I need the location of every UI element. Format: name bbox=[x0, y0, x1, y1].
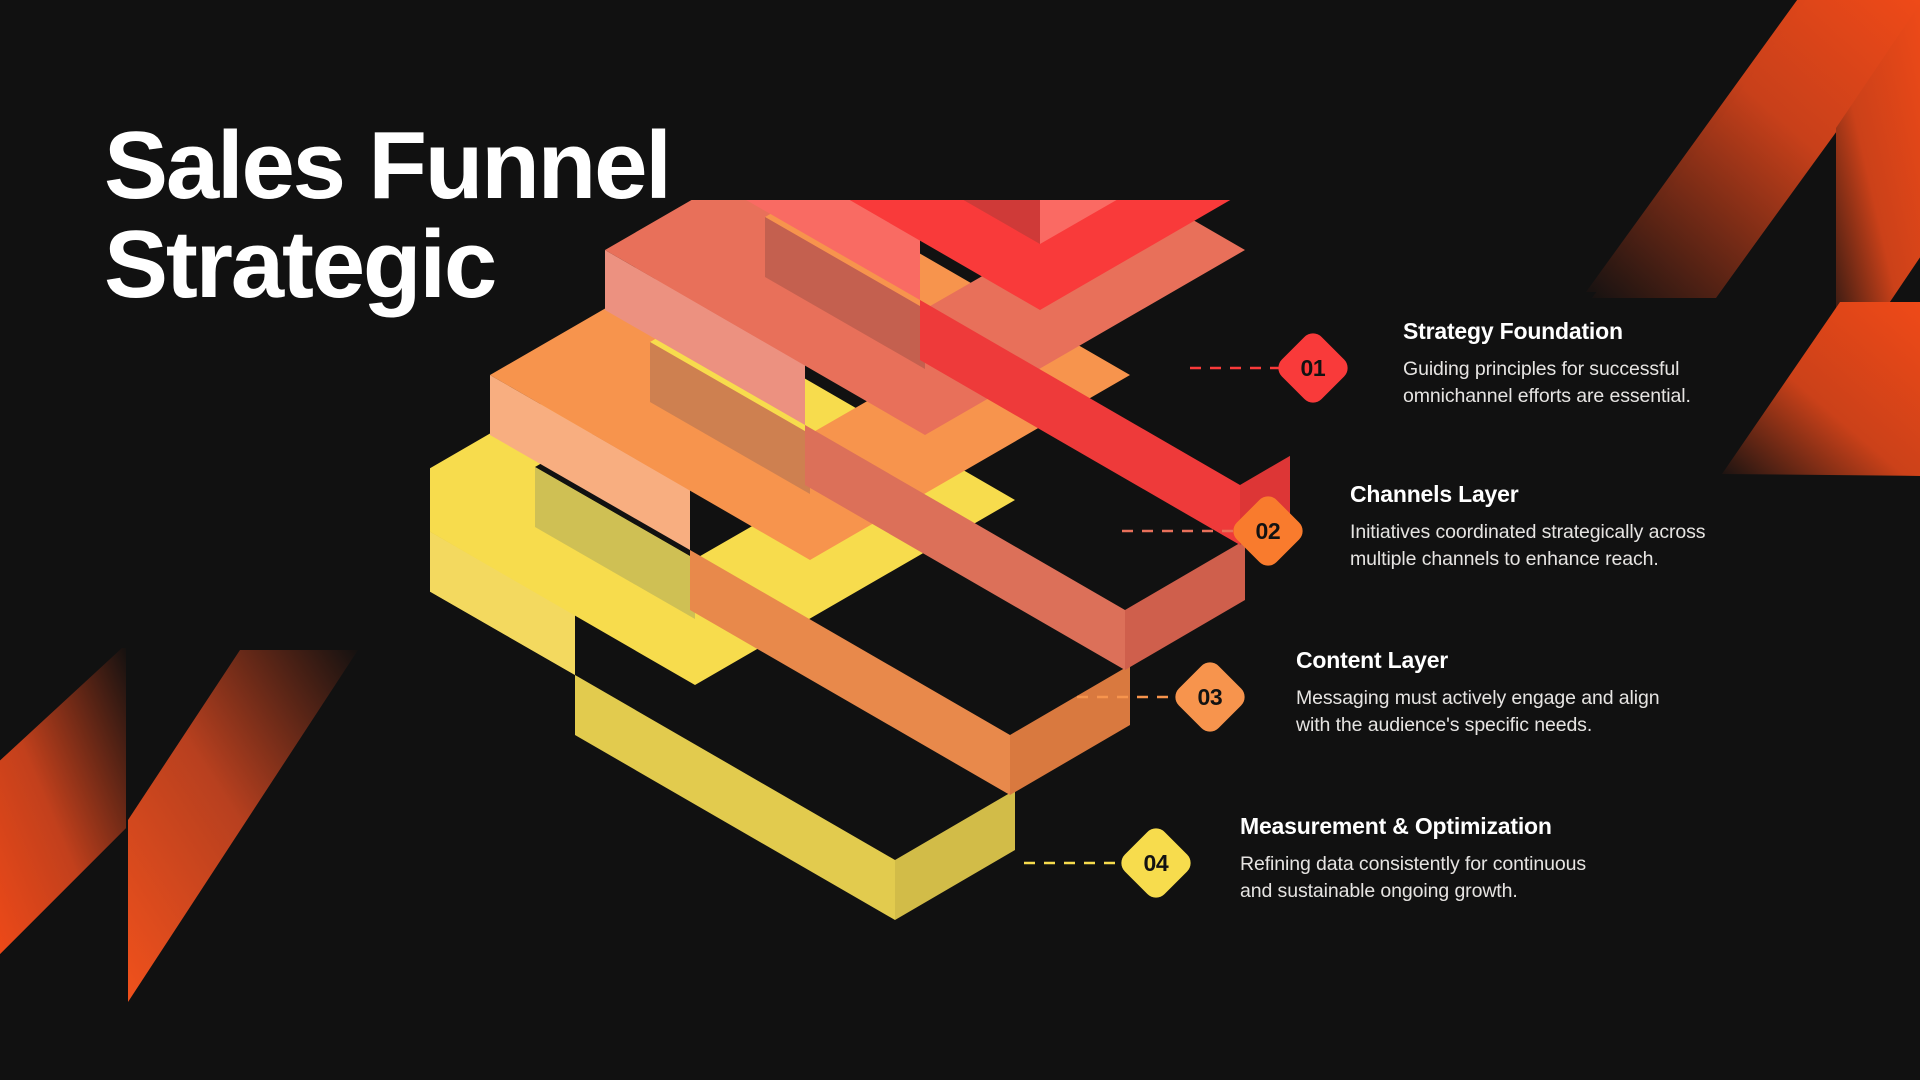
layer-2-depth-right bbox=[1125, 540, 1245, 670]
layer-4-depth-front bbox=[575, 675, 895, 920]
deco-shape-top-right-3 bbox=[1836, 0, 1920, 382]
legend-desc-02: Initiatives coordinated strategically ac… bbox=[1350, 519, 1790, 573]
legend-desc-04: Refining data consistently for continuou… bbox=[1240, 851, 1680, 905]
legend-text-03: Content Layer Messaging must actively en… bbox=[1296, 647, 1736, 739]
legend-title-04: Measurement & Optimization bbox=[1240, 813, 1680, 840]
badge-04-number: 04 bbox=[1144, 851, 1169, 874]
legend-text-02: Channels Layer Initiatives coordinated s… bbox=[1350, 481, 1790, 573]
legend-title-03: Content Layer bbox=[1296, 647, 1736, 674]
isometric-funnel-diagram bbox=[430, 200, 1290, 1050]
badge-02-number: 02 bbox=[1256, 519, 1281, 542]
legend-title-02: Channels Layer bbox=[1350, 481, 1790, 508]
deco-shape-bottom-left-b bbox=[0, 648, 126, 960]
legend-text-04: Measurement & Optimization Refining data… bbox=[1240, 813, 1680, 905]
legend-desc-01: Guiding principles for successful omnich… bbox=[1403, 356, 1823, 410]
legend-title-01: Strategy Foundation bbox=[1403, 318, 1823, 345]
legend-desc-03: Messaging must actively engage and align… bbox=[1296, 685, 1736, 739]
funnel-svg bbox=[430, 200, 1290, 1050]
deco-shape-top-right-1 bbox=[1592, 0, 1920, 298]
badge-01-number: 01 bbox=[1301, 356, 1326, 379]
layer-4-depth-right bbox=[895, 790, 1015, 920]
deco-shape-bottom-left-a bbox=[0, 648, 126, 960]
layer-3-depth-right bbox=[1010, 665, 1130, 795]
deco-shape-top-right-a bbox=[1592, 0, 1920, 290]
title-line-1: Sales Funnel bbox=[104, 118, 924, 213]
badge-03-number: 03 bbox=[1198, 685, 1223, 708]
deco-shape-bottom-left-d bbox=[128, 650, 358, 1002]
legend-text-01: Strategy Foundation Guiding principles f… bbox=[1403, 318, 1823, 410]
deco-shape-top-right-big bbox=[1586, 0, 1920, 292]
slide-canvas: Sales Funnel Strategic bbox=[0, 0, 1920, 1080]
